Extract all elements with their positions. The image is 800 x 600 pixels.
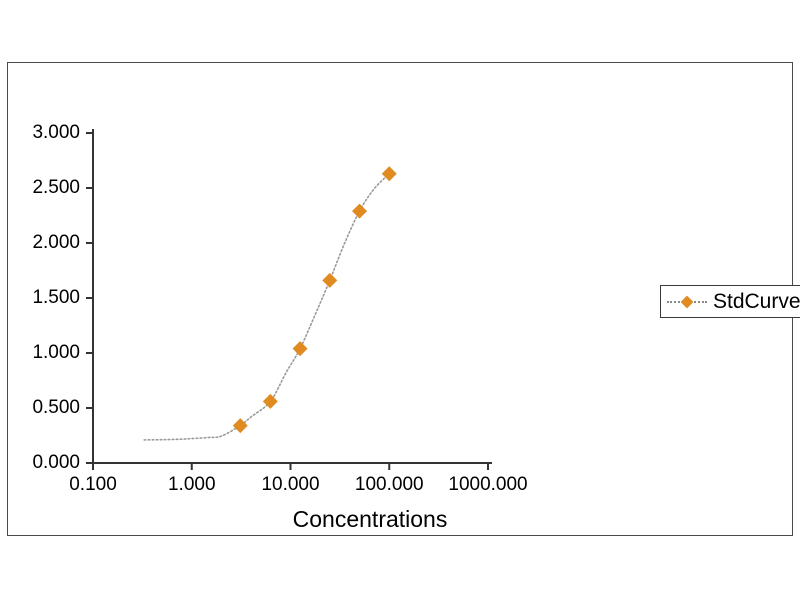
legend-diamond-icon <box>681 295 694 308</box>
y-tick-label: 0.000 <box>0 452 80 474</box>
x-tick-label: 0.100 <box>69 474 117 496</box>
chart-legend: StdCurve <box>660 285 800 318</box>
y-tick-label: 2.500 <box>0 177 80 199</box>
x-tick-label: 10.000 <box>261 474 319 496</box>
y-tick-label: 0.500 <box>0 397 80 419</box>
y-tick-label: 3.000 <box>0 122 80 144</box>
std-curve-chart: 0.0000.5001.0001.5002.0002.5003.000 0.10… <box>0 0 800 600</box>
y-tick-label: 1.000 <box>0 342 80 364</box>
legend-label-stdcurve: StdCurve <box>713 291 800 312</box>
x-tick-label: 1.000 <box>168 474 216 496</box>
y-tick-label: 1.500 <box>0 287 80 309</box>
x-tick-label: 100.000 <box>355 474 424 496</box>
legend-marker-stdcurve <box>667 295 707 309</box>
x-axis-title: Concentrations <box>293 506 448 533</box>
y-tick-label: 2.000 <box>0 232 80 254</box>
x-tick-label: 1000.000 <box>448 474 527 496</box>
